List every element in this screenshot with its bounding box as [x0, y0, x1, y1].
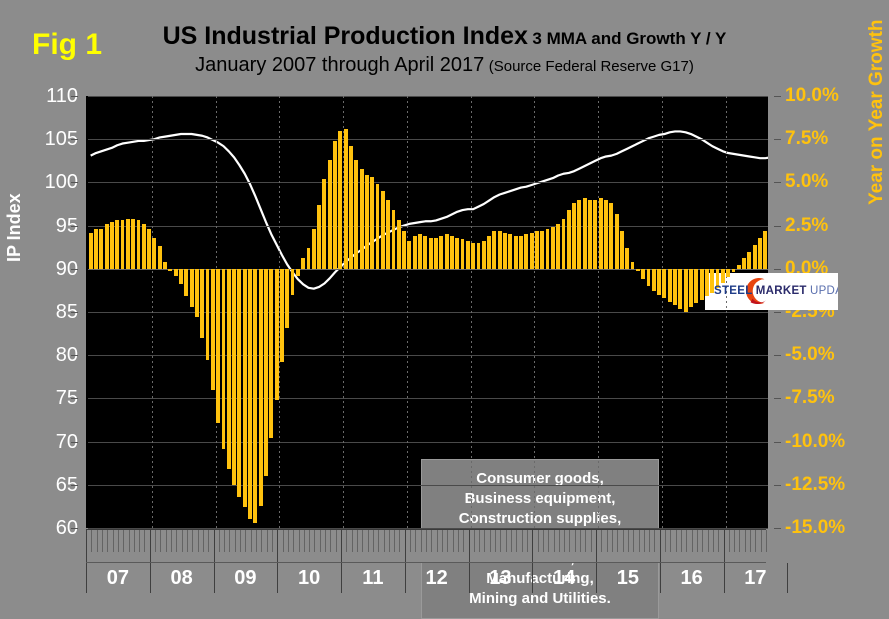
legend-line: Consumer goods,: [476, 469, 604, 489]
x-month-tick: [277, 530, 278, 563]
growth-bar: [360, 169, 364, 269]
growth-bar: [386, 200, 390, 269]
x-month-tick: [506, 530, 507, 552]
x-month-tick: [495, 530, 496, 552]
y-tick-mark-left: [71, 485, 78, 486]
growth-bar: [684, 269, 688, 312]
growth-bar: [567, 210, 571, 269]
gridline-vertical: [152, 96, 153, 528]
x-month-tick: [713, 530, 714, 552]
x-month-tick: [198, 530, 199, 552]
y-tick-mark-right: [774, 182, 781, 183]
growth-bar: [211, 269, 215, 390]
gridline-horizontal: [88, 226, 768, 227]
x-month-tick: [267, 530, 268, 552]
y-tick-label-left: 65: [8, 474, 78, 497]
x-year-label: 10: [277, 567, 341, 590]
growth-bar: [407, 241, 411, 269]
growth-bar: [556, 224, 560, 269]
x-month-tick: [166, 530, 167, 552]
growth-bar: [572, 203, 576, 269]
growth-bar: [657, 269, 661, 295]
logo-wordmark: STEEL MARKET UPDATE: [714, 285, 838, 297]
logo-word-steel: STEEL: [714, 285, 753, 297]
x-month-tick: [750, 530, 751, 552]
x-month-tick: [91, 530, 92, 552]
x-month-tick: [660, 530, 661, 563]
growth-bar: [307, 248, 311, 269]
x-month-tick: [421, 530, 422, 552]
growth-bar: [137, 220, 141, 268]
x-month-tick: [739, 530, 740, 552]
growth-bar: [631, 262, 635, 269]
y-tick-label-left: 75: [8, 387, 78, 410]
growth-bar: [328, 160, 332, 269]
x-month-tick: [649, 530, 650, 552]
x-axis-year-labels: 0708091011121314151617: [86, 562, 766, 597]
x-month-tick: [261, 530, 262, 552]
growth-bar: [668, 269, 672, 302]
gridline-vertical: [662, 96, 663, 528]
growth-bar: [131, 219, 135, 269]
growth-bar: [115, 220, 119, 268]
x-month-tick: [293, 530, 294, 552]
growth-bar: [259, 269, 263, 506]
growth-bar: [721, 269, 725, 283]
x-month-tick: [187, 530, 188, 552]
x-month-tick: [235, 530, 236, 552]
x-month-tick: [129, 530, 130, 552]
growth-bar: [163, 262, 167, 269]
x-month-tick: [320, 530, 321, 552]
x-month-tick: [447, 530, 448, 552]
y-tick-label-left: 110: [8, 85, 78, 108]
y-tick-label-left: 60: [8, 517, 78, 540]
x-month-tick: [670, 530, 671, 552]
chart-subtitle: January 2007 through April 2017 (Source …: [0, 54, 889, 77]
x-month-tick: [532, 530, 533, 563]
growth-bar: [285, 269, 289, 328]
growth-bar: [445, 234, 449, 269]
growth-bar: [152, 238, 156, 269]
growth-bar: [747, 252, 751, 269]
x-year-label: 16: [660, 567, 724, 590]
growth-bar: [227, 269, 231, 469]
growth-bar: [732, 269, 736, 272]
x-year-label: 09: [214, 567, 278, 590]
x-month-tick: [240, 530, 241, 552]
growth-bar: [498, 231, 502, 269]
growth-bar: [248, 269, 252, 520]
growth-bar: [461, 239, 465, 268]
x-month-tick: [378, 530, 379, 552]
x-month-tick: [681, 530, 682, 552]
x-month-tick: [442, 530, 443, 552]
growth-bar: [354, 160, 358, 269]
x-month-tick: [410, 530, 411, 552]
growth-bar: [222, 269, 226, 449]
subtitle-main-text: January 2007 through April 2017: [195, 54, 484, 76]
x-month-tick: [692, 530, 693, 552]
x-month-tick: [511, 530, 512, 552]
x-month-tick: [569, 530, 570, 552]
x-month-tick: [654, 530, 655, 552]
y-axis-right-ticks: 10.0%7.5%5.0%2.5%0.0%-2.5%-5.0%-7.5%-10.…: [774, 96, 869, 528]
x-month-tick: [676, 530, 677, 552]
growth-bar: [158, 246, 162, 268]
growth-bar: [673, 269, 677, 305]
x-month-tick: [484, 530, 485, 552]
growth-bar: [418, 234, 422, 269]
y-tick-mark-right: [774, 528, 781, 529]
x-year-label: 14: [532, 567, 596, 590]
growth-bar: [275, 269, 279, 400]
x-month-tick: [336, 530, 337, 552]
y-tick-mark-left: [71, 226, 78, 227]
growth-bar: [455, 238, 459, 269]
x-month-tick: [437, 530, 438, 552]
x-month-tick: [633, 530, 634, 552]
x-month-tick: [575, 530, 576, 552]
x-month-tick: [229, 530, 230, 552]
growth-bar: [737, 265, 741, 268]
growth-bar: [551, 227, 555, 268]
growth-bar: [195, 269, 199, 317]
x-month-tick: [214, 530, 215, 563]
x-month-tick: [107, 530, 108, 552]
x-month-tick: [639, 530, 640, 552]
growth-bar: [232, 269, 236, 485]
x-month-tick: [628, 530, 629, 552]
gridline-vertical: [726, 96, 727, 528]
y-tick-mark-left: [71, 269, 78, 270]
growth-bar: [94, 229, 98, 269]
growth-bar: [647, 269, 651, 286]
growth-bar: [168, 269, 172, 271]
growth-bar: [546, 229, 550, 269]
growth-bar: [620, 231, 624, 269]
x-month-tick: [463, 530, 464, 552]
logo-word-update: UPDATE: [810, 285, 838, 297]
y-tick-mark-left: [71, 355, 78, 356]
x-month-tick: [580, 530, 581, 552]
growth-bar: [689, 269, 693, 307]
x-month-tick: [559, 530, 560, 552]
growth-bar: [593, 200, 597, 269]
x-year-label: 08: [150, 567, 214, 590]
growth-bar: [599, 198, 603, 269]
gridline-horizontal: [88, 442, 768, 443]
x-month-tick: [102, 530, 103, 552]
x-month-tick: [458, 530, 459, 552]
x-month-tick: [607, 530, 608, 552]
growth-bar: [413, 236, 417, 269]
x-month-tick: [601, 530, 602, 552]
x-month-tick: [500, 530, 501, 552]
growth-bar: [121, 220, 125, 268]
growth-bar: [678, 269, 682, 309]
growth-bar: [753, 245, 757, 269]
x-month-tick: [208, 530, 209, 552]
growth-bar: [577, 200, 581, 269]
x-month-tick: [469, 530, 470, 563]
growth-bar: [742, 258, 746, 268]
x-month-tick: [399, 530, 400, 552]
x-month-tick: [182, 530, 183, 552]
x-year-separator: [787, 563, 788, 593]
y-tick-label-left: 85: [8, 301, 78, 324]
growth-bar: [381, 191, 385, 269]
y-tick-label-right: 7.5%: [785, 128, 828, 150]
growth-bar: [237, 269, 241, 497]
x-month-tick: [585, 530, 586, 552]
x-month-tick: [474, 530, 475, 552]
x-month-tick: [596, 530, 597, 563]
y-tick-mark-left: [71, 312, 78, 313]
x-month-tick: [522, 530, 523, 552]
y-tick-label-left: 95: [8, 215, 78, 238]
growth-bar: [126, 219, 130, 269]
x-month-tick: [702, 530, 703, 552]
plot-area: Consumer goods,Business equipment,Constr…: [86, 96, 768, 528]
x-month-tick: [591, 530, 592, 552]
x-year-label: 11: [341, 567, 405, 590]
growth-bar: [615, 214, 619, 269]
growth-bar: [370, 177, 374, 269]
growth-bar: [758, 238, 762, 269]
gridline-vertical: [407, 96, 408, 528]
x-year-label: 13: [469, 567, 533, 590]
x-month-tick: [389, 530, 390, 552]
x-month-tick: [155, 530, 156, 552]
x-month-tick: [341, 530, 342, 563]
y-tick-mark-left: [71, 139, 78, 140]
growth-bar: [291, 269, 295, 295]
x-month-tick: [612, 530, 613, 552]
gridline-horizontal: [88, 139, 768, 140]
growth-bar: [429, 238, 433, 269]
y-tick-mark-right: [774, 442, 781, 443]
growth-bar: [423, 236, 427, 269]
x-month-tick: [97, 530, 98, 552]
growth-bar: [700, 269, 704, 300]
x-month-tick: [761, 530, 762, 552]
growth-bar: [514, 236, 518, 269]
growth-bar: [535, 231, 539, 269]
growth-bar: [466, 241, 470, 269]
y-tick-label-right: -5.0%: [785, 344, 835, 366]
x-month-tick: [734, 530, 735, 552]
growth-bar: [524, 234, 528, 269]
growth-bar: [588, 200, 592, 269]
y-tick-mark-right: [774, 226, 781, 227]
x-month-tick: [330, 530, 331, 552]
x-month-tick: [516, 530, 517, 552]
x-month-tick: [426, 530, 427, 552]
growth-bar: [174, 269, 178, 276]
y-tick-mark-left: [71, 442, 78, 443]
x-month-tick: [357, 530, 358, 552]
y-axis-title-right: Year on Year Growth: [866, 19, 888, 205]
x-month-tick: [453, 530, 454, 552]
gridline-vertical: [471, 96, 472, 528]
gridline-vertical: [534, 96, 535, 528]
growth-bar: [105, 224, 109, 269]
growth-bar: [365, 175, 369, 268]
growth-bar: [625, 248, 629, 269]
growth-bar: [604, 200, 608, 269]
steel-market-update-logo: STEEL MARKET UPDATE: [705, 273, 838, 310]
x-month-tick: [729, 530, 730, 552]
x-month-tick: [527, 530, 528, 552]
x-year-label: 12: [405, 567, 469, 590]
growth-bar: [519, 236, 523, 269]
x-month-tick: [368, 530, 369, 552]
growth-bar: [652, 269, 656, 291]
growth-bar: [694, 269, 698, 304]
y-tick-label-right: 5.0%: [785, 171, 828, 193]
x-month-tick: [745, 530, 746, 552]
gridline-horizontal: [88, 312, 768, 313]
x-month-tick: [219, 530, 220, 552]
x-month-tick: [86, 530, 87, 563]
growth-bar: [317, 205, 321, 269]
x-month-tick: [362, 530, 363, 552]
growth-bar: [110, 222, 114, 269]
x-month-tick: [113, 530, 114, 552]
growth-bar: [439, 236, 443, 269]
growth-bar: [147, 229, 151, 269]
title-sub-text: 3 MMA and Growth Y / Y: [532, 29, 726, 48]
growth-bar: [450, 236, 454, 269]
growth-bar: [471, 243, 475, 269]
x-month-tick: [176, 530, 177, 552]
gridline-horizontal: [88, 182, 768, 183]
growth-bar: [487, 236, 491, 269]
legend-line: Business equipment,: [465, 489, 616, 509]
x-month-tick: [554, 530, 555, 552]
x-month-tick: [543, 530, 544, 552]
y-tick-mark-right: [774, 398, 781, 399]
growth-bar: [609, 203, 613, 269]
growth-bar: [392, 210, 396, 269]
x-month-tick: [431, 530, 432, 552]
growth-bar: [269, 269, 273, 438]
growth-bar: [253, 269, 257, 523]
growth-bar: [322, 179, 326, 269]
x-month-tick: [245, 530, 246, 552]
x-month-tick: [299, 530, 300, 552]
growth-bar: [705, 269, 709, 297]
x-year-label: 17: [724, 567, 788, 590]
growth-bar: [376, 184, 380, 269]
growth-bar: [583, 198, 587, 269]
growth-bar: [243, 269, 247, 507]
y-tick-label-right: -10.0%: [785, 431, 845, 453]
x-year-label: 07: [86, 567, 150, 590]
x-month-tick: [373, 530, 374, 552]
gridline-horizontal: [88, 355, 768, 356]
growth-bar: [562, 219, 566, 269]
y-tick-mark-right: [774, 312, 781, 313]
x-month-tick: [118, 530, 119, 552]
growth-bar: [482, 241, 486, 269]
y-tick-mark-right: [774, 485, 781, 486]
growth-bar: [296, 269, 300, 276]
growth-bar: [264, 269, 268, 476]
y-tick-label-right: -15.0%: [785, 517, 845, 539]
growth-bar: [662, 269, 666, 298]
growth-bar: [540, 231, 544, 269]
x-month-tick: [766, 530, 767, 552]
x-month-tick: [272, 530, 273, 552]
x-month-tick: [708, 530, 709, 552]
growth-bar: [280, 269, 284, 362]
y-tick-mark-left: [71, 528, 78, 529]
y-tick-mark-left: [71, 182, 78, 183]
growth-bar: [344, 129, 348, 269]
x-month-tick: [718, 530, 719, 552]
growth-bar: [216, 269, 220, 423]
y-tick-label-right: 2.5%: [785, 215, 828, 237]
x-month-tick: [134, 530, 135, 552]
x-month-tick: [304, 530, 305, 552]
growth-bar: [530, 233, 534, 269]
x-month-tick: [314, 530, 315, 552]
growth-bar: [338, 131, 342, 269]
growth-bar: [179, 269, 183, 285]
x-month-tick: [697, 530, 698, 552]
chart-title: IP Index (3 MMA) US Industrial Productio…: [0, 22, 889, 51]
x-month-tick: [665, 530, 666, 552]
x-month-tick: [224, 530, 225, 552]
y-tick-mark-left: [71, 96, 78, 97]
x-month-tick: [203, 530, 204, 552]
y-tick-mark-right: [774, 355, 781, 356]
gridline-horizontal: [88, 96, 768, 97]
x-month-tick: [617, 530, 618, 552]
x-month-tick: [538, 530, 539, 552]
x-month-tick: [623, 530, 624, 552]
x-month-tick: [644, 530, 645, 552]
y-tick-label-left: 105: [8, 128, 78, 151]
x-month-tick: [160, 530, 161, 552]
x-year-label: 15: [596, 567, 660, 590]
x-month-tick: [144, 530, 145, 552]
y-tick-label-left: 70: [8, 431, 78, 454]
x-month-tick: [123, 530, 124, 552]
growth-bar: [89, 233, 93, 269]
y-tick-mark-right: [774, 139, 781, 140]
growth-bar: [333, 141, 337, 269]
growth-bar: [636, 269, 640, 271]
growth-bar: [349, 146, 353, 269]
y-tick-label-left: 100: [8, 171, 78, 194]
growth-bar: [312, 229, 316, 269]
legend-line: Construction supplies,: [459, 509, 622, 529]
title-main-text: US Industrial Production Index: [163, 22, 528, 50]
y-tick-label-left: 90: [8, 258, 78, 281]
x-month-tick: [490, 530, 491, 552]
growth-bar: [402, 231, 406, 269]
x-month-tick: [724, 530, 725, 563]
subtitle-source-text: (Source Federal Reserve G17): [489, 58, 694, 75]
growth-bar: [763, 231, 767, 269]
growth-bar: [477, 243, 481, 269]
growth-bar: [503, 233, 507, 269]
x-month-tick: [309, 530, 310, 552]
y-tick-mark-left: [71, 398, 78, 399]
